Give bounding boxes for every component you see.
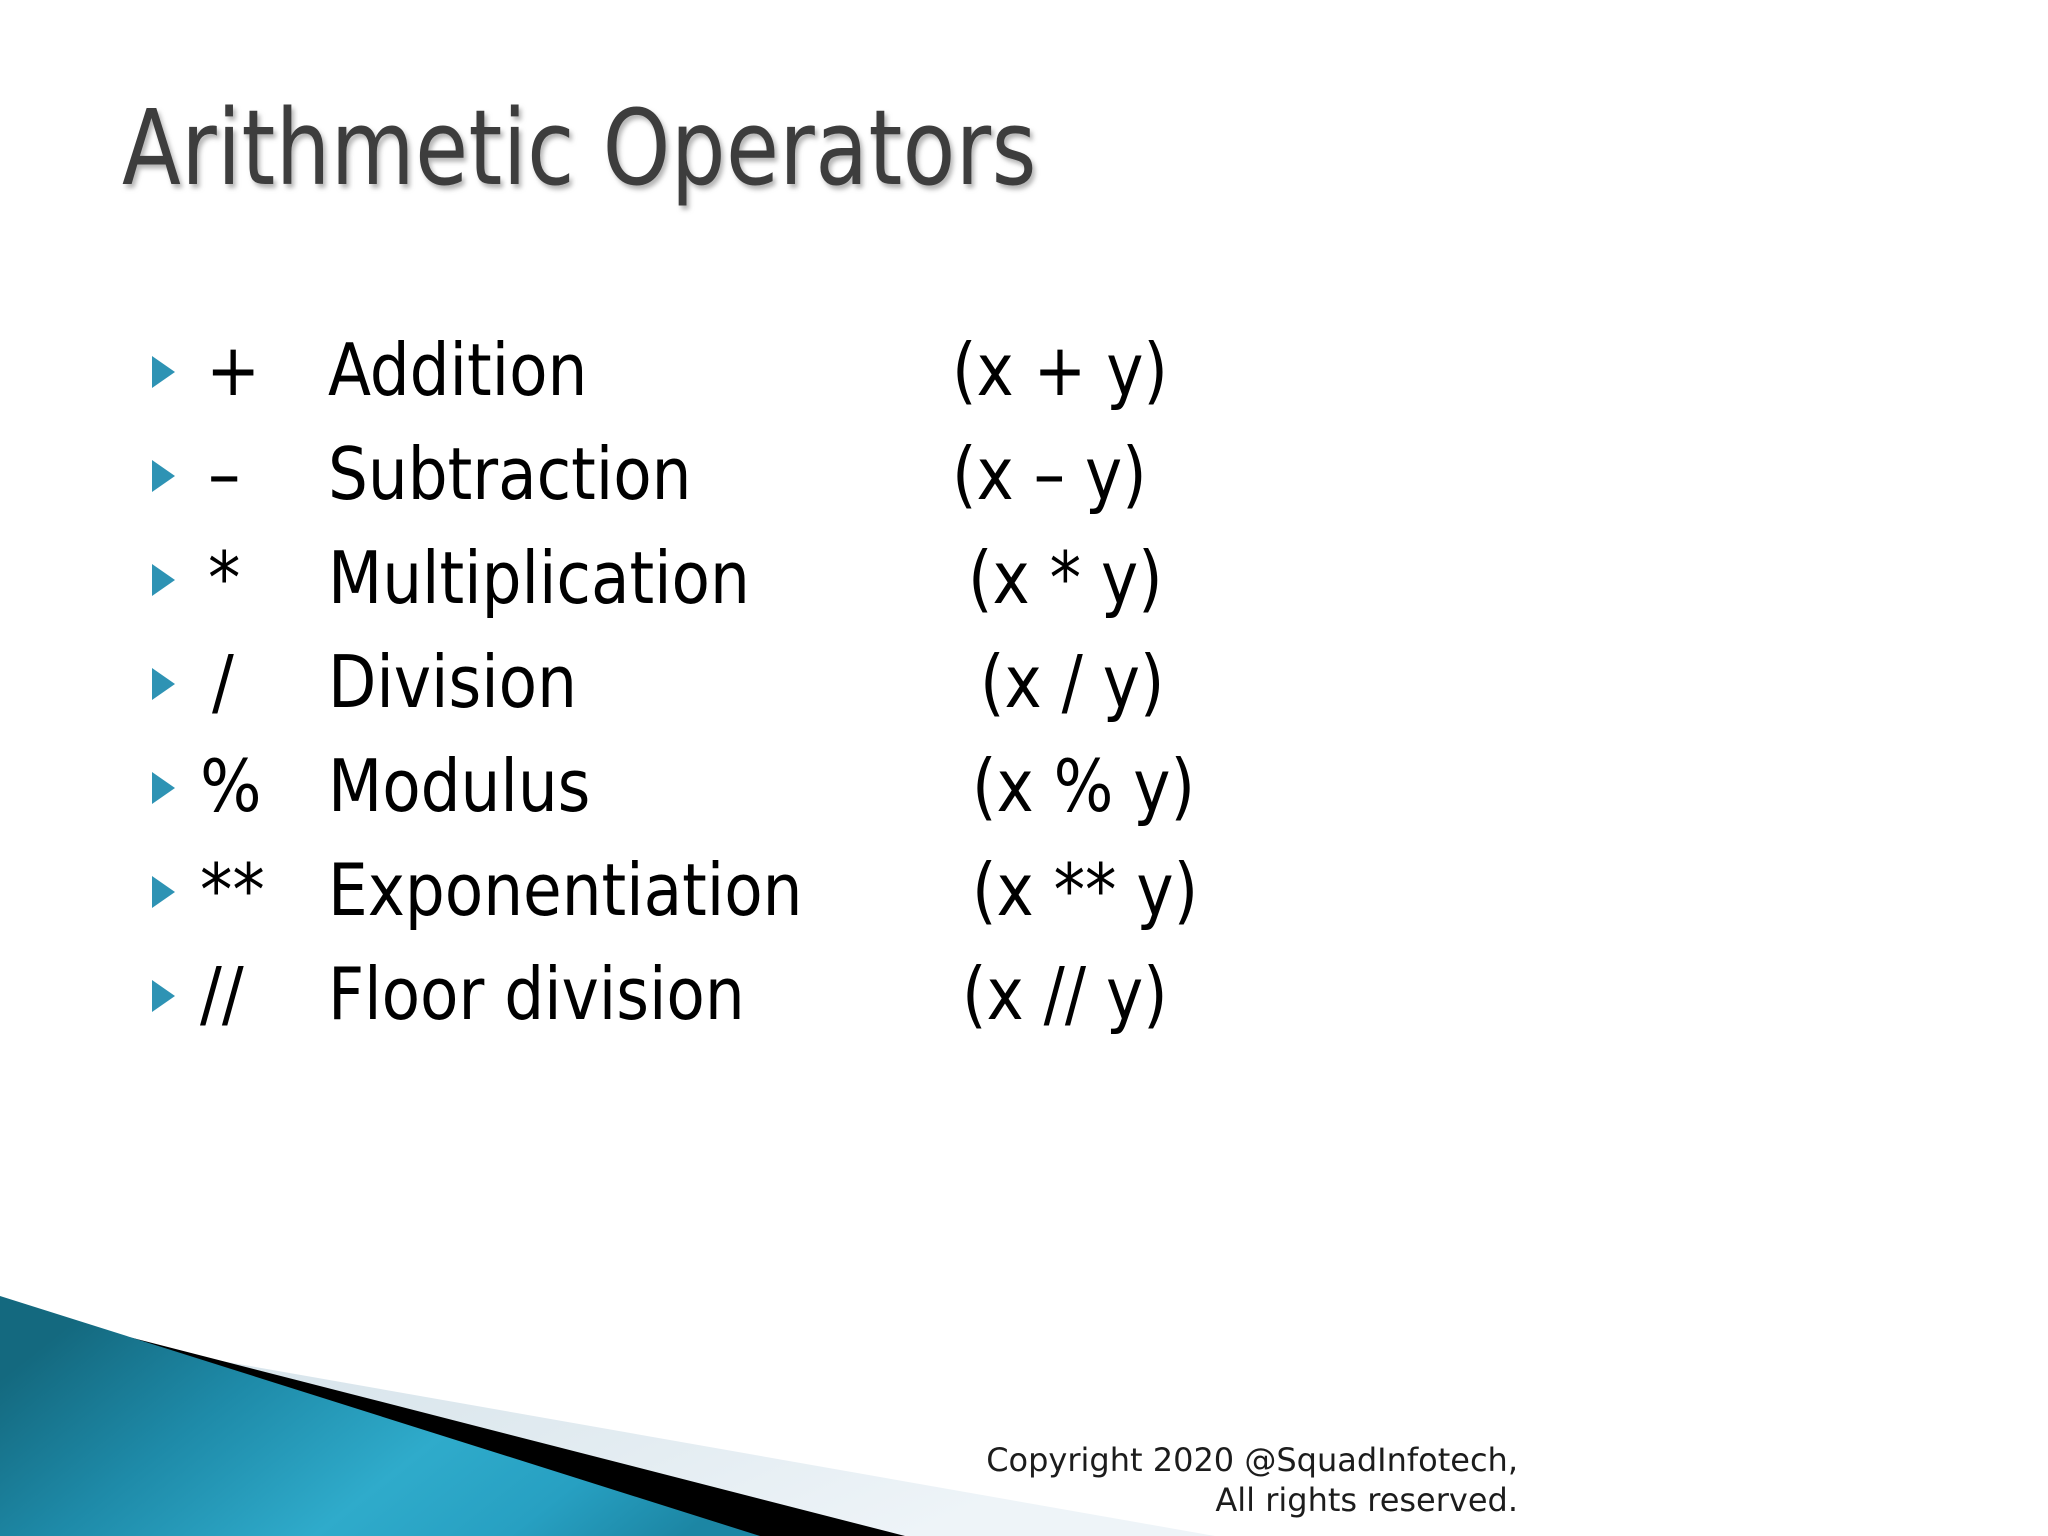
operator-name: Modulus bbox=[328, 746, 590, 826]
bullet-triangle-icon bbox=[152, 460, 175, 492]
list-item: ** Exponentiation (x ** y) bbox=[0, 850, 2048, 954]
operator-expression: (x % y) bbox=[972, 746, 1195, 826]
operator-name: Division bbox=[328, 642, 577, 722]
decoration-teal-wedge bbox=[0, 1296, 760, 1536]
list-item: + Addition (x + y) bbox=[0, 330, 2048, 434]
bullet-triangle-icon bbox=[152, 980, 175, 1012]
page-title: Arithmetic Operators bbox=[122, 96, 1037, 200]
operator-symbol: / bbox=[212, 642, 234, 722]
list-item: % Modulus (x % y) bbox=[0, 746, 2048, 850]
operator-name: Subtraction bbox=[328, 434, 691, 514]
operator-list: + Addition (x + y) – Subtraction (x – y)… bbox=[0, 330, 2048, 1058]
list-item: / Division (x / y) bbox=[0, 642, 2048, 746]
operator-symbol: – bbox=[208, 434, 240, 514]
operator-expression: (x // y) bbox=[962, 954, 1168, 1034]
operator-symbol: // bbox=[200, 954, 244, 1034]
operator-symbol: % bbox=[200, 746, 262, 826]
operator-expression: (x / y) bbox=[980, 642, 1164, 722]
operator-symbol: + bbox=[206, 330, 260, 410]
bullet-triangle-icon bbox=[152, 564, 175, 596]
decoration-black-stripe bbox=[0, 1304, 905, 1536]
operator-name: Floor division bbox=[328, 954, 745, 1034]
operator-expression: (x + y) bbox=[952, 330, 1168, 410]
copyright-line-1: Copyright 2020 @SquadInfotech, bbox=[986, 1440, 1518, 1480]
copyright-line-2: All rights reserved. bbox=[986, 1480, 1518, 1520]
bullet-triangle-icon bbox=[152, 876, 175, 908]
slide-canvas: Arithmetic Operators + Addition (x + y) … bbox=[0, 0, 2048, 1536]
list-item: – Subtraction (x – y) bbox=[0, 434, 2048, 538]
bullet-triangle-icon bbox=[152, 668, 175, 700]
operator-symbol: ** bbox=[200, 850, 265, 930]
footer-copyright: Copyright 2020 @SquadInfotech, All right… bbox=[986, 1440, 1518, 1520]
bullet-triangle-icon bbox=[152, 772, 175, 804]
operator-expression: (x * y) bbox=[968, 538, 1163, 618]
operator-symbol: * bbox=[208, 538, 240, 618]
operator-name: Multiplication bbox=[328, 538, 750, 618]
list-item: // Floor division (x // y) bbox=[0, 954, 2048, 1058]
operator-name: Addition bbox=[328, 330, 587, 410]
operator-expression: (x – y) bbox=[952, 434, 1147, 514]
operator-name: Exponentiation bbox=[328, 850, 802, 930]
operator-expression: (x ** y) bbox=[972, 850, 1198, 930]
bullet-triangle-icon bbox=[152, 356, 175, 388]
list-item: * Multiplication (x * y) bbox=[0, 538, 2048, 642]
